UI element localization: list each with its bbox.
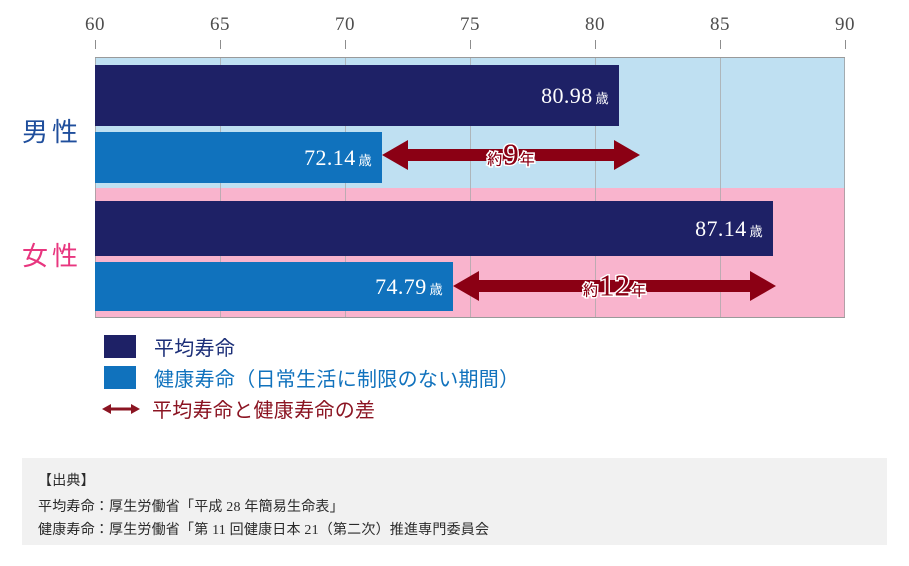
axis-tick-60 <box>95 40 96 49</box>
axis-tick-80 <box>595 40 596 49</box>
bar-female-healthy-life-expectancy: 74.79歳 <box>95 262 453 311</box>
axis-label-90: 90 <box>835 14 855 36</box>
legend-label-difference: 平均寿命と健康寿命の差 <box>152 394 375 423</box>
bar-male-life-expectancy: 80.98歳 <box>95 65 619 126</box>
bar-female-healthy-value: 74.79歳 <box>375 274 453 300</box>
life-expectancy-chart: 60 65 70 75 80 85 90 男性 女性 80.98歳 72.14歳 <box>0 0 909 440</box>
legend-label-healthy-life-expectancy: 健康寿命（日常生活に制限のない期間） <box>154 363 519 392</box>
source-note-box: 【出典】 平均寿命：厚生労働省「平成 28 年簡易生命表」 健康寿命：厚生労働省… <box>22 458 887 545</box>
plot-area: 80.98歳 72.14歳 約9年 約9年 87.14歳 74.79歳 <box>95 57 845 318</box>
bar-female-life-expectancy: 87.14歳 <box>95 201 773 256</box>
diff-label-male: 約9年 <box>487 136 535 172</box>
axis-label-85: 85 <box>710 14 730 36</box>
gridline-90 <box>844 58 845 317</box>
axis-tick-75 <box>470 40 471 49</box>
diff-arrow-female: 約12年 約12年 <box>453 266 776 306</box>
axis-label-65: 65 <box>210 14 230 36</box>
legend-swatch-square-icon <box>104 335 136 358</box>
diff-arrow-male: 約9年 約9年 <box>382 135 640 175</box>
legend-item-difference: 平均寿命と健康寿命の差 <box>104 393 704 424</box>
axis-label-60: 60 <box>85 14 105 36</box>
legend-swatch-square-icon <box>104 366 136 389</box>
category-label-female: 女性 <box>22 236 82 273</box>
axis-tick-65 <box>220 40 221 49</box>
axis-tick-90 <box>845 40 846 49</box>
source-line-healthy-life-expectancy: 健康寿命：厚生労働省「第 11 回健康日本 21（第二次）推進専門委員会 <box>38 519 871 542</box>
source-heading: 【出典】 <box>38 470 871 493</box>
bar-female-life-value: 87.14歳 <box>695 216 773 242</box>
legend-label-life-expectancy: 平均寿命 <box>154 332 235 361</box>
axis-tick-85 <box>720 40 721 49</box>
axis-label-75: 75 <box>460 14 480 36</box>
chart-legend: 平均寿命 健康寿命（日常生活に制限のない期間） 平均寿命と健康寿命の差 <box>104 331 704 424</box>
axis-label-80: 80 <box>585 14 605 36</box>
double-arrow-icon <box>102 402 140 416</box>
category-label-male: 男性 <box>22 112 82 149</box>
bar-male-healthy-value: 72.14歳 <box>304 145 382 171</box>
diff-label-female: 約12年 <box>583 267 646 303</box>
source-line-life-expectancy: 平均寿命：厚生労働省「平成 28 年簡易生命表」 <box>38 496 871 519</box>
bar-male-life-value: 80.98歳 <box>541 83 619 109</box>
axis-tick-70 <box>345 40 346 49</box>
legend-item-healthy-life-expectancy: 健康寿命（日常生活に制限のない期間） <box>104 362 704 393</box>
bar-male-healthy-life-expectancy: 72.14歳 <box>95 132 382 183</box>
axis-label-70: 70 <box>335 14 355 36</box>
legend-item-life-expectancy: 平均寿命 <box>104 331 704 362</box>
